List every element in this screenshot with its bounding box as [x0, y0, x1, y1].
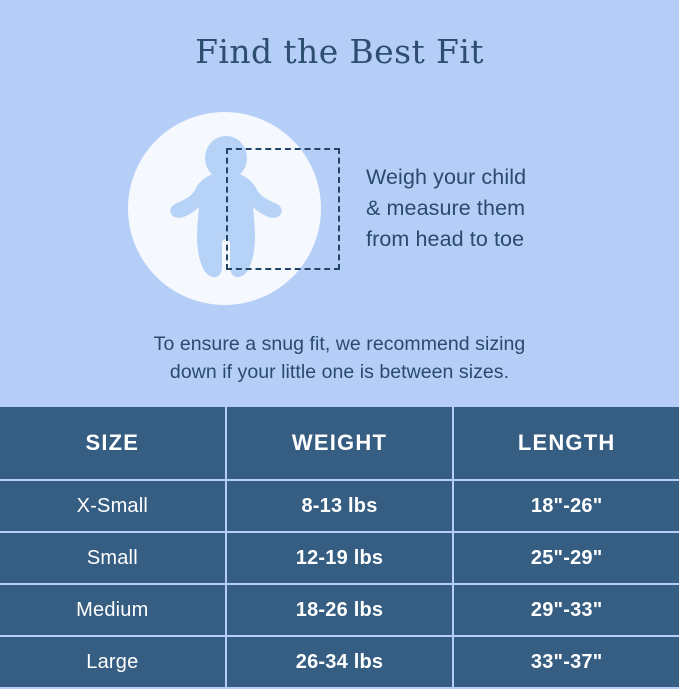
- cell-size: Small: [0, 533, 225, 583]
- hero-panel: Find the Best Fit Weigh your child & mea…: [0, 0, 679, 407]
- cell-weight: 8-13 lbs: [227, 481, 453, 531]
- cell-weight: 26-34 lbs: [227, 637, 453, 687]
- cell-length: 25"-29": [454, 533, 679, 583]
- cell-length: 33"-37": [454, 637, 679, 687]
- table-row: Large 26-34 lbs 33"-37": [0, 637, 679, 687]
- table-header-row: SIZE WEIGHT LENGTH: [0, 407, 679, 479]
- cell-weight: 18-26 lbs: [227, 585, 453, 635]
- side-note-line-1: Weigh your child: [366, 162, 596, 193]
- illustration-group: [120, 104, 370, 314]
- sizing-advice-line-1: To ensure a snug fit, we recommend sizin…: [0, 330, 679, 358]
- cell-length: 29"-33": [454, 585, 679, 635]
- size-chart-table: SIZE WEIGHT LENGTH X-Small 8-13 lbs 18"-…: [0, 407, 679, 679]
- table-row: X-Small 8-13 lbs 18"-26": [0, 481, 679, 531]
- cell-size: Medium: [0, 585, 225, 635]
- table-row: Small 12-19 lbs 25"-29": [0, 533, 679, 583]
- sizing-advice-line-2: down if your little one is between sizes…: [0, 358, 679, 386]
- column-header-weight: WEIGHT: [227, 407, 453, 479]
- cell-weight: 12-19 lbs: [227, 533, 453, 583]
- column-header-size: SIZE: [0, 407, 225, 479]
- dashed-measure-box: [226, 148, 340, 270]
- side-note-line-3: from head to toe: [366, 224, 596, 255]
- cell-size: Large: [0, 637, 225, 687]
- column-header-length: LENGTH: [454, 407, 679, 479]
- side-note-line-2: & measure them: [366, 193, 596, 224]
- page-title: Find the Best Fit: [0, 32, 679, 71]
- cell-length: 18"-26": [454, 481, 679, 531]
- table-row: Medium 18-26 lbs 29"-33": [0, 585, 679, 635]
- side-note-text: Weigh your child & measure them from hea…: [366, 162, 596, 255]
- cell-size: X-Small: [0, 481, 225, 531]
- sizing-advice-text: To ensure a snug fit, we recommend sizin…: [0, 330, 679, 386]
